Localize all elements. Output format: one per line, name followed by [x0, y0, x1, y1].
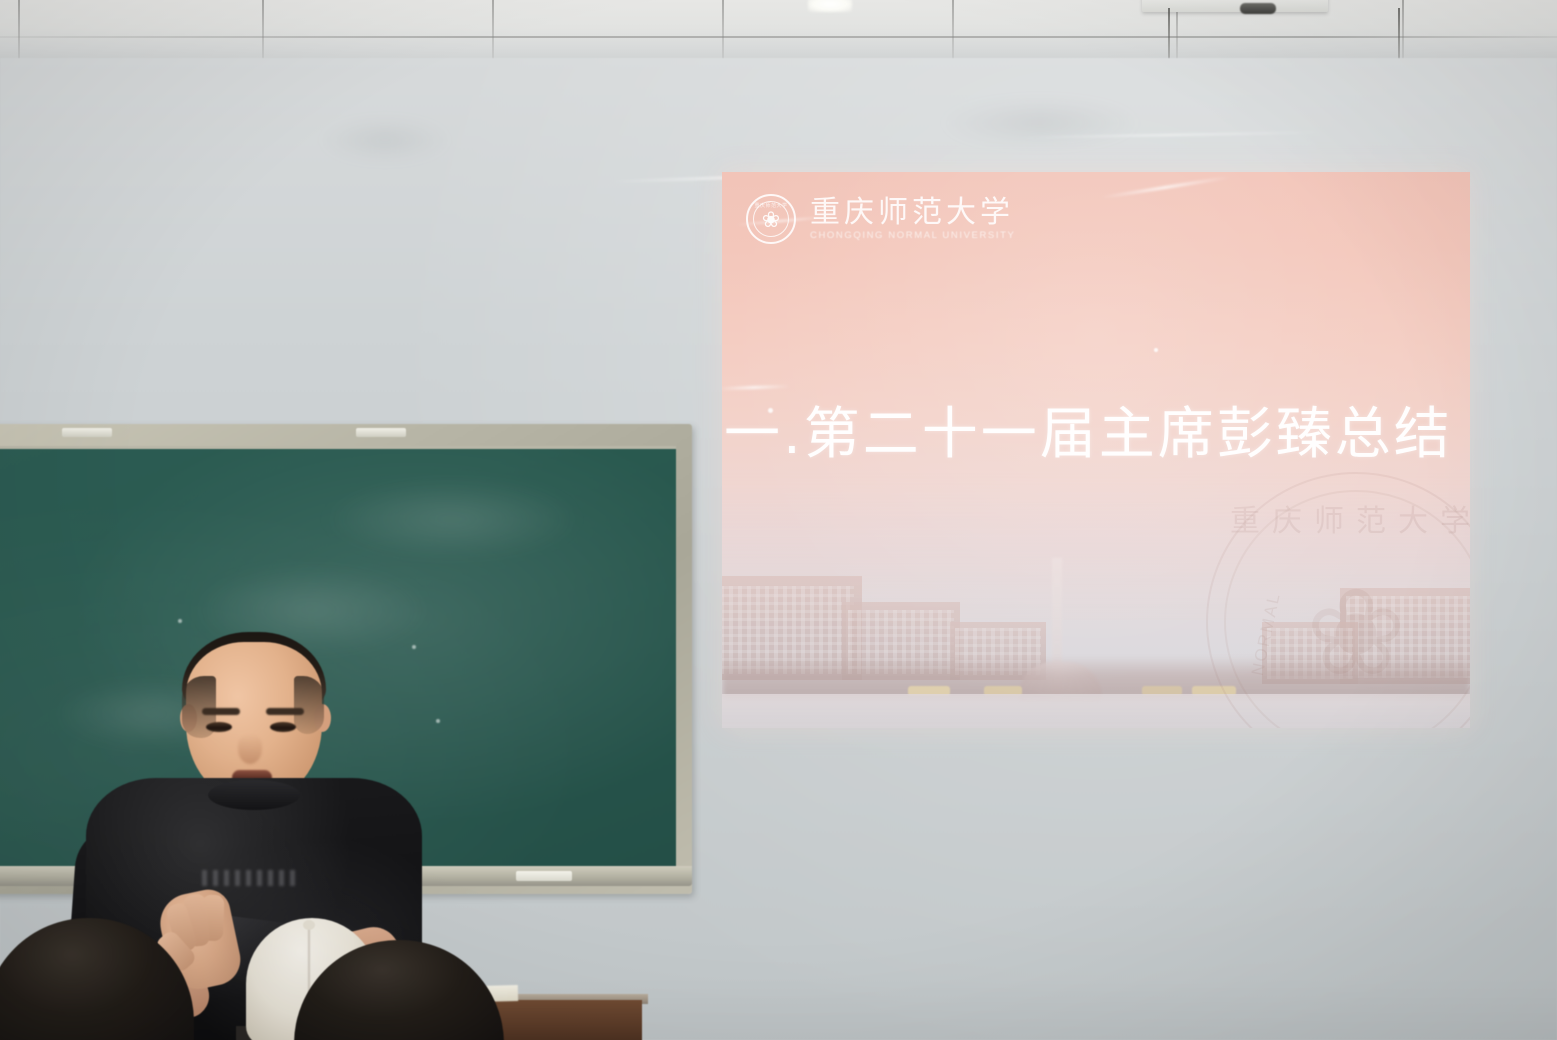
university-name-en: CHONGQING NORMAL UNIVERSITY [810, 230, 1015, 241]
seal-flower-icon: ❀ [762, 209, 780, 231]
university-name-cn: 重庆师范大学 [810, 198, 1015, 228]
ceiling-grid-line [262, 0, 264, 62]
ceiling [0, 0, 1557, 62]
presenter-eyebrow [266, 708, 304, 715]
logo-text-block: 重庆师范大学 CHONGQING NORMAL UNIVERSITY [810, 198, 1015, 241]
blackboard-tray-clip [62, 428, 112, 437]
projection-streak [722, 385, 790, 391]
classroom-scene: 重庆师范大学 ❀ NORMAL 重庆师范大学 ❀ 重庆师范大学 CHONGQIN… [0, 0, 1557, 1040]
projection-speck [1154, 348, 1158, 352]
ceiling-grid-line [1402, 0, 1404, 62]
slide-watermark-seal: 重庆师范大学 ❀ NORMAL [1206, 472, 1470, 728]
university-seal-icon: 重庆师范大学 ❀ [746, 194, 796, 244]
presenter-eyebrow [202, 708, 240, 715]
blackboard-tray-clip [356, 428, 406, 437]
chalk-mark [178, 619, 182, 623]
projection-streak [1101, 176, 1230, 199]
watermark-side-text: NORMAL [1248, 590, 1285, 677]
presenter-nose [238, 734, 262, 764]
presenter-eye [270, 722, 296, 732]
cap-button-icon [303, 920, 315, 930]
ceiling-hanger-wire [1168, 8, 1170, 62]
watermark-arc-text: 重庆师范大学 [1208, 496, 1470, 540]
ceiling-grid-line [952, 0, 954, 62]
ceiling-grid-line [0, 36, 1557, 38]
presenter-eye [206, 722, 232, 732]
projector-lens-icon [1240, 3, 1276, 14]
wall-smudge [940, 98, 1140, 148]
presenter-hair-fade [294, 676, 324, 734]
ceiling-hanger-wire [1398, 8, 1400, 62]
wall-smudge [320, 118, 450, 162]
watermark-flower-icon: ❀ [1306, 574, 1407, 694]
chalk-haze [322, 479, 582, 559]
presenter-collar [208, 780, 300, 810]
slide-university-logo: 重庆师范大学 ❀ 重庆师范大学 CHONGQING NORMAL UNIVERS… [746, 194, 1015, 244]
slide-title: 一.第二十一届主席彭臻总结 [724, 406, 1468, 465]
chalk-stick [516, 871, 572, 881]
ceiling-grid-line [492, 0, 494, 62]
projected-slide: 重庆师范大学 ❀ NORMAL 重庆师范大学 ❀ 重庆师范大学 CHONGQIN… [722, 172, 1470, 728]
ceiling-light-fixture [808, 0, 852, 12]
ceiling-grid-line [722, 0, 724, 62]
ceiling-grid-line [18, 0, 20, 62]
presenter-shirt-print [202, 870, 298, 886]
